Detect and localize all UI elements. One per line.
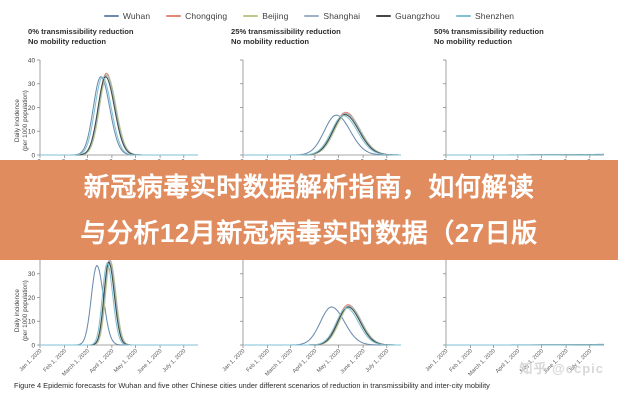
- x-tick-label: April 1, 2020: [495, 348, 521, 374]
- y-axis-title-line-2: (per 1000 population): [22, 280, 30, 341]
- y-axis-title-line-1: Daily incidence: [14, 90, 22, 151]
- y-axis-title-line-2: (per 1000 population): [22, 90, 30, 151]
- x-tick-label: Feb 1, 2020: [449, 348, 474, 373]
- series-line-wuhan: [446, 344, 604, 345]
- x-tick-label: Jan 1, 2020: [424, 348, 449, 373]
- y-axis-title: Daily incidence(per 1000 population): [14, 280, 29, 341]
- overlay-title: 新冠病毒实时数据解析指南，如何解读 与分析12月新冠病毒实时数据（27日版: [0, 162, 618, 258]
- figure-caption: Figure 4 Epidemic forecasts for Wuhan an…: [14, 381, 610, 391]
- y-axis-title: Daily incidence(per 1000 population): [14, 90, 29, 151]
- figure-root: WuhanChongqingBeijingShanghaiGuangzhouSh…: [0, 0, 618, 400]
- watermark: 知乎 @ccpic: [519, 358, 604, 377]
- y-axis-title-line-1: Daily incidence: [14, 280, 22, 341]
- x-tick-label: March 1, 2020: [467, 348, 497, 378]
- overlay-title-line-2: 与分析12月新冠病毒实时数据（27日版: [80, 210, 537, 256]
- overlay-title-line-1: 新冠病毒实时数据解析指南，如何解读: [84, 164, 535, 210]
